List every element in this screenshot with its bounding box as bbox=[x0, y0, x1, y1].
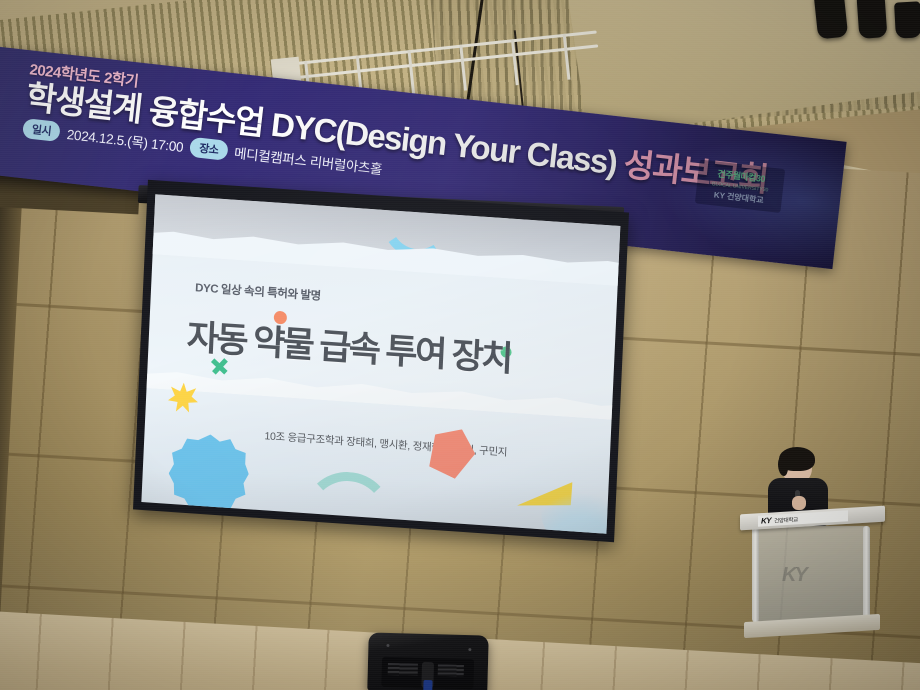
podium-column-right bbox=[863, 526, 870, 622]
podium-front-logo: KY bbox=[782, 564, 806, 587]
slide-kicker-text: DYC 일상 속의 특허와 발명 bbox=[195, 279, 321, 304]
stage-monitor-speaker bbox=[367, 632, 488, 690]
speaker-screw bbox=[468, 648, 471, 651]
banner-place-value: 메디컬캠퍼스 리버럴아츠홀 bbox=[233, 142, 383, 178]
banner-university-logo: 건주월마컴30 GLOCAL UNIVERSITY30 KY 건양대학교 bbox=[695, 160, 785, 213]
speaker-screw bbox=[386, 644, 389, 647]
banner-place-pill: 장소 bbox=[189, 137, 228, 161]
slide-blue-scallop-shape bbox=[167, 432, 250, 517]
lectern-podium: KY KY 건양대학교 bbox=[740, 510, 885, 650]
speaker-grill-left bbox=[388, 663, 418, 676]
projected-slide: DYC 일상 속의 특허와 발명 자동 약물 급속 투여 장치 10조 응급구조… bbox=[141, 194, 620, 533]
projector-screen-frame: DYC 일상 속의 특허와 발명 자동 약물 급속 투여 장치 10조 응급구조… bbox=[133, 180, 629, 542]
logo-line-2: GLOCAL UNIVERSITY30 bbox=[711, 181, 768, 193]
podium-column-left bbox=[752, 526, 759, 622]
logo-line-1: 건주월마컴30 bbox=[717, 167, 766, 185]
speaker-grill-right bbox=[438, 664, 464, 677]
podium-brand-name: 건양대학교 bbox=[774, 514, 798, 523]
logo-line-3: KY 건양대학교 bbox=[713, 189, 764, 206]
photo-scene: 2024학년도 2학기 학생설계 융합수업 DYC(Design Your Cl… bbox=[0, 0, 920, 690]
presenter-hair-side bbox=[778, 456, 788, 476]
slide-light-blue-arc-shape bbox=[540, 477, 621, 533]
ceiling-light-fixture bbox=[894, 1, 920, 38]
banner-date-value: 2024.12.5.(목) 17:00 bbox=[66, 123, 185, 156]
slide-orange-dot-shape bbox=[274, 311, 288, 325]
banner-date-pill: 일시 bbox=[22, 118, 61, 142]
ceiling-light-fixture bbox=[857, 0, 888, 39]
podium-body bbox=[754, 526, 869, 622]
presenter-hands bbox=[792, 496, 806, 510]
banner-title-highlight: 성과보고회 bbox=[622, 145, 770, 198]
slide-title: 자동 약물 급속 투여 장치 bbox=[186, 319, 587, 385]
banner-glare bbox=[653, 122, 846, 269]
speaker-plug bbox=[423, 680, 432, 690]
ceiling-light-fixture bbox=[814, 0, 848, 39]
podium-brand-mark: KY bbox=[761, 515, 771, 525]
